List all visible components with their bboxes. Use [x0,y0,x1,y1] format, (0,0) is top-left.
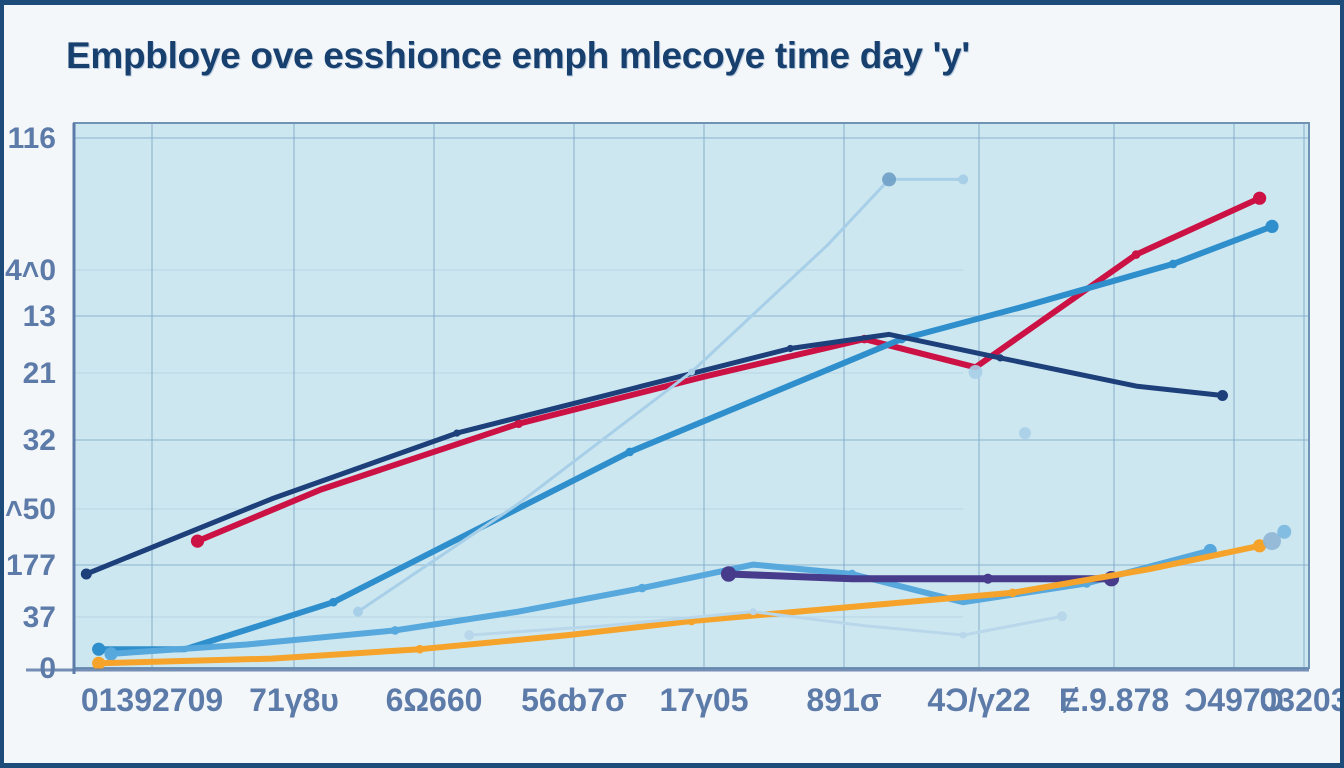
marker-series-purple-2 [983,574,993,584]
marker-series-pale-low-4 [960,632,967,639]
marker-series-pale-highlight-5 [958,174,968,184]
marker-series-steel-blue-0 [92,643,105,656]
marker-series-navy-6 [997,354,1004,361]
y-tick-label-6: 177 [6,549,56,582]
x-tick-label-6: 4Ɔ/γ22 [927,682,1030,718]
x-tick-label-9: 03203 [1260,682,1344,718]
marker-series-pale-low-2 [750,608,757,615]
scatter-point-4 [1277,525,1291,539]
marker-series-navy-2 [453,430,460,437]
marker-series-steel-blue-9 [1265,220,1278,233]
marker-series-pale-highlight-0 [353,607,363,617]
y-axis-tick-labels: 1164˄01321323˄50177370 [4,122,56,685]
x-axis-tick-labels: 0139270971γ8υ6Ω66056ȸ7σ17γ05891σ4Ɔ/γ22Ɇ.… [81,682,1344,718]
x-tick-label-3: 56ȸ7σ [521,682,627,718]
y-tick-label-2: 13 [23,300,56,333]
plot-area-wrapper: 1164˄01321323˄50177370 0139270971γ8υ6Ω66… [4,5,1344,768]
marker-series-sky-4 [638,584,647,593]
x-tick-label-0: 01392709 [81,682,223,718]
x-tick-label-5: 891σ [806,682,881,718]
marker-series-crimson-7 [1253,192,1266,205]
marker-series-steel-blue-4 [625,448,634,457]
marker-series-navy-8 [1217,390,1228,401]
x-tick-label-7: Ɇ.9.878 [1059,682,1169,718]
marker-series-pale-low-0 [464,630,474,640]
plot-background [74,123,1309,668]
y-tick-label-1: 4˄0 [5,254,56,287]
y-tick-label-4: 32 [23,424,56,457]
marker-series-purple-0 [721,566,736,581]
scatter-point-1 [969,365,983,379]
marker-series-sky-0 [104,647,117,660]
marker-series-pale-low-5 [1057,611,1067,621]
marker-series-crimson-0 [191,535,204,548]
marker-series-steel-blue-8 [1169,260,1178,269]
marker-series-sky-2 [391,626,400,635]
scatter-point-2 [1019,427,1031,439]
marker-series-steel-blue-2 [329,598,338,607]
marker-series-crimson-6 [1132,250,1141,259]
x-tick-label-2: 6Ω660 [386,682,483,718]
y-tick-label-8: 0 [39,652,56,685]
x-tick-label-4: 17γ05 [660,682,749,718]
x-tick-label-1: 71γ8υ [249,682,339,718]
chart-svg: 1164˄01321323˄50177370 0139270971γ8υ6Ω66… [4,5,1344,768]
marker-series-orange-6 [1008,588,1017,597]
chart-canvas: Empbloye ove esshionce emph mlecoye time… [0,0,1344,768]
y-tick-label-3: 21 [23,357,56,390]
y-tick-label-0: 116 [8,122,56,155]
scatter-point-0 [882,172,896,186]
y-tick-label-5: 3˄50 [4,493,56,526]
marker-series-pale-highlight-2 [688,369,695,376]
marker-series-navy-0 [81,569,92,580]
y-tick-label-7: 37 [23,601,56,634]
marker-series-orange-2 [415,645,424,654]
marker-series-navy-4 [787,345,794,352]
marker-series-orange-0 [92,657,105,670]
